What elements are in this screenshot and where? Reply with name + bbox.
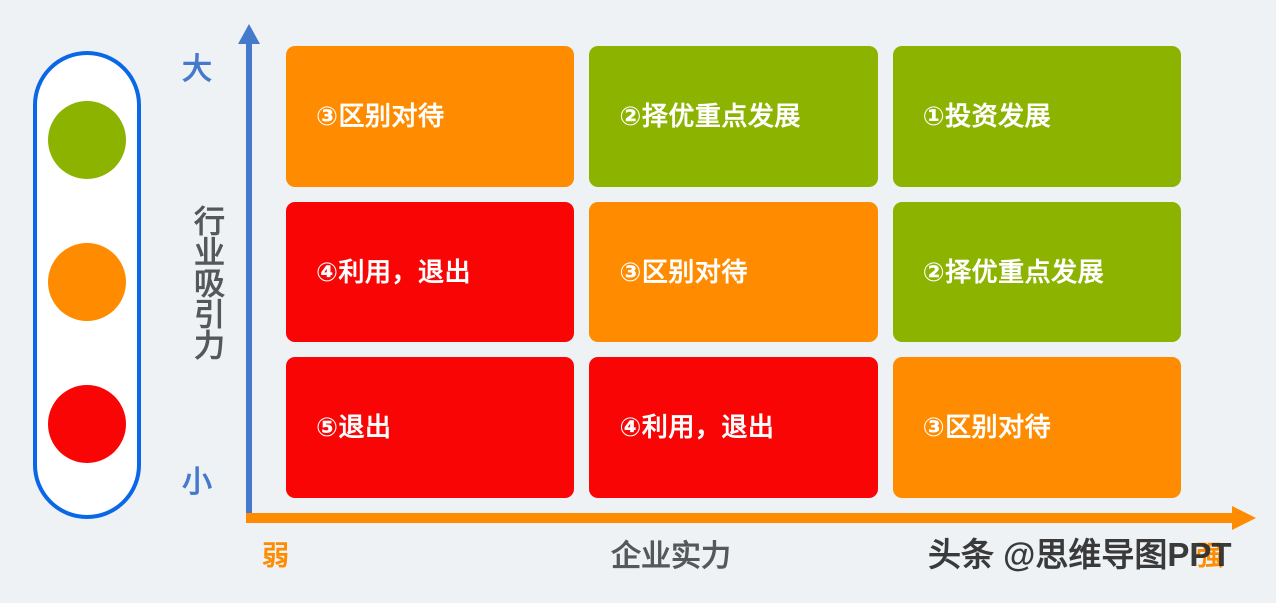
matrix-cell[interactable]: ①投资发展 bbox=[893, 46, 1181, 187]
x-axis-arrow-icon bbox=[1232, 506, 1256, 530]
watermark-text: 头条 @思维导图PPT bbox=[928, 538, 1232, 571]
y-axis-high-label: 大 bbox=[182, 55, 212, 85]
y-axis-arrow-icon bbox=[238, 24, 260, 44]
matrix-cell-label: ④利用，退出 bbox=[619, 413, 774, 442]
matrix-cell-label: ⑤退出 bbox=[316, 413, 392, 442]
green-light-icon bbox=[48, 101, 126, 179]
matrix-cell-label: ③区别对待 bbox=[316, 102, 445, 131]
matrix-cell[interactable]: ④利用，退出 bbox=[589, 357, 877, 498]
matrix-cell-label: ④利用，退出 bbox=[316, 258, 471, 287]
matrix-cell[interactable]: ④利用，退出 bbox=[286, 202, 574, 343]
matrix-cell-label: ①投资发展 bbox=[923, 102, 1052, 131]
matrix-cell[interactable]: ②择优重点发展 bbox=[893, 202, 1181, 343]
orange-light-icon bbox=[48, 243, 126, 321]
x-axis-low-label: 弱 bbox=[262, 543, 289, 570]
matrix-cell[interactable]: ③区别对待 bbox=[286, 46, 574, 187]
matrix-cell[interactable]: ⑤退出 bbox=[286, 357, 574, 498]
traffic-light-legend bbox=[33, 51, 141, 519]
red-light-icon bbox=[48, 385, 126, 463]
ge-matrix-diagram: 大 小 行业吸引力 弱 强 企业实力 ③区别对待②择优重点发展①投资发展④利用，… bbox=[0, 0, 1276, 603]
x-axis-title: 企业实力 bbox=[611, 542, 731, 572]
matrix-cell-label: ③区别对待 bbox=[923, 413, 1052, 442]
x-axis-line bbox=[246, 513, 1239, 523]
matrix-cell[interactable]: ②择优重点发展 bbox=[589, 46, 877, 187]
y-axis-line bbox=[246, 36, 252, 519]
matrix-cell-label: ②择优重点发展 bbox=[619, 102, 801, 131]
matrix-grid: ③区别对待②择优重点发展①投资发展④利用，退出③区别对待②择优重点发展⑤退出④利… bbox=[286, 46, 1181, 498]
matrix-cell-label: ②择优重点发展 bbox=[923, 258, 1105, 287]
y-axis-low-label: 小 bbox=[182, 468, 212, 498]
y-axis-title: 行业吸引力 bbox=[176, 205, 222, 360]
matrix-cell[interactable]: ③区别对待 bbox=[893, 357, 1181, 498]
matrix-cell-label: ③区别对待 bbox=[619, 258, 748, 287]
matrix-cell[interactable]: ③区别对待 bbox=[589, 202, 877, 343]
